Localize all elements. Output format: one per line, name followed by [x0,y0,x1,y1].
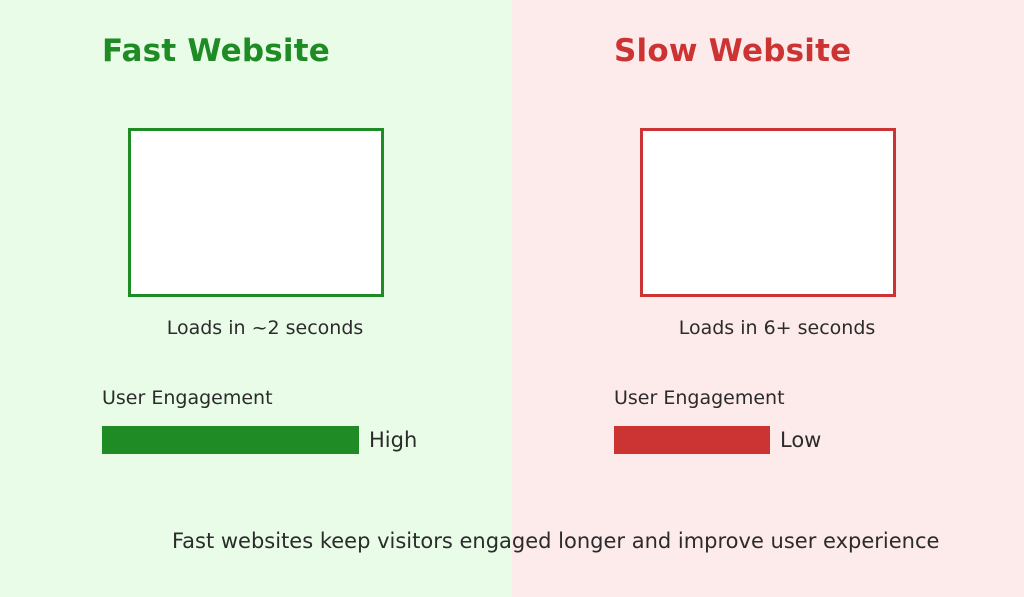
slow-engagement-bar-row: Low [614,426,821,454]
slow-load-time-caption: Loads in 6+ seconds [512,317,1024,339]
fast-engagement-bar [102,426,359,454]
fast-engagement-value: High [369,428,417,452]
fast-engagement-label: User Engagement [102,387,273,409]
fast-panel-title: Fast Website [102,33,330,69]
slow-engagement-bar [614,426,770,454]
slow-browser-mockup [640,128,896,297]
slow-website-panel: Slow Website Loads in 6+ seconds User En… [512,0,1024,597]
fast-website-panel: Fast Website Loads in ~2 seconds User En… [0,0,512,597]
fast-load-time-caption: Loads in ~2 seconds [0,317,512,339]
comparison-infographic: Fast Website Loads in ~2 seconds User En… [0,0,1024,597]
footer-caption: Fast websites keep visitors engaged long… [172,529,939,553]
slow-panel-title: Slow Website [614,33,851,69]
fast-browser-mockup [128,128,384,297]
slow-engagement-value: Low [780,428,821,452]
slow-engagement-label: User Engagement [614,387,785,409]
fast-engagement-bar-row: High [102,426,417,454]
